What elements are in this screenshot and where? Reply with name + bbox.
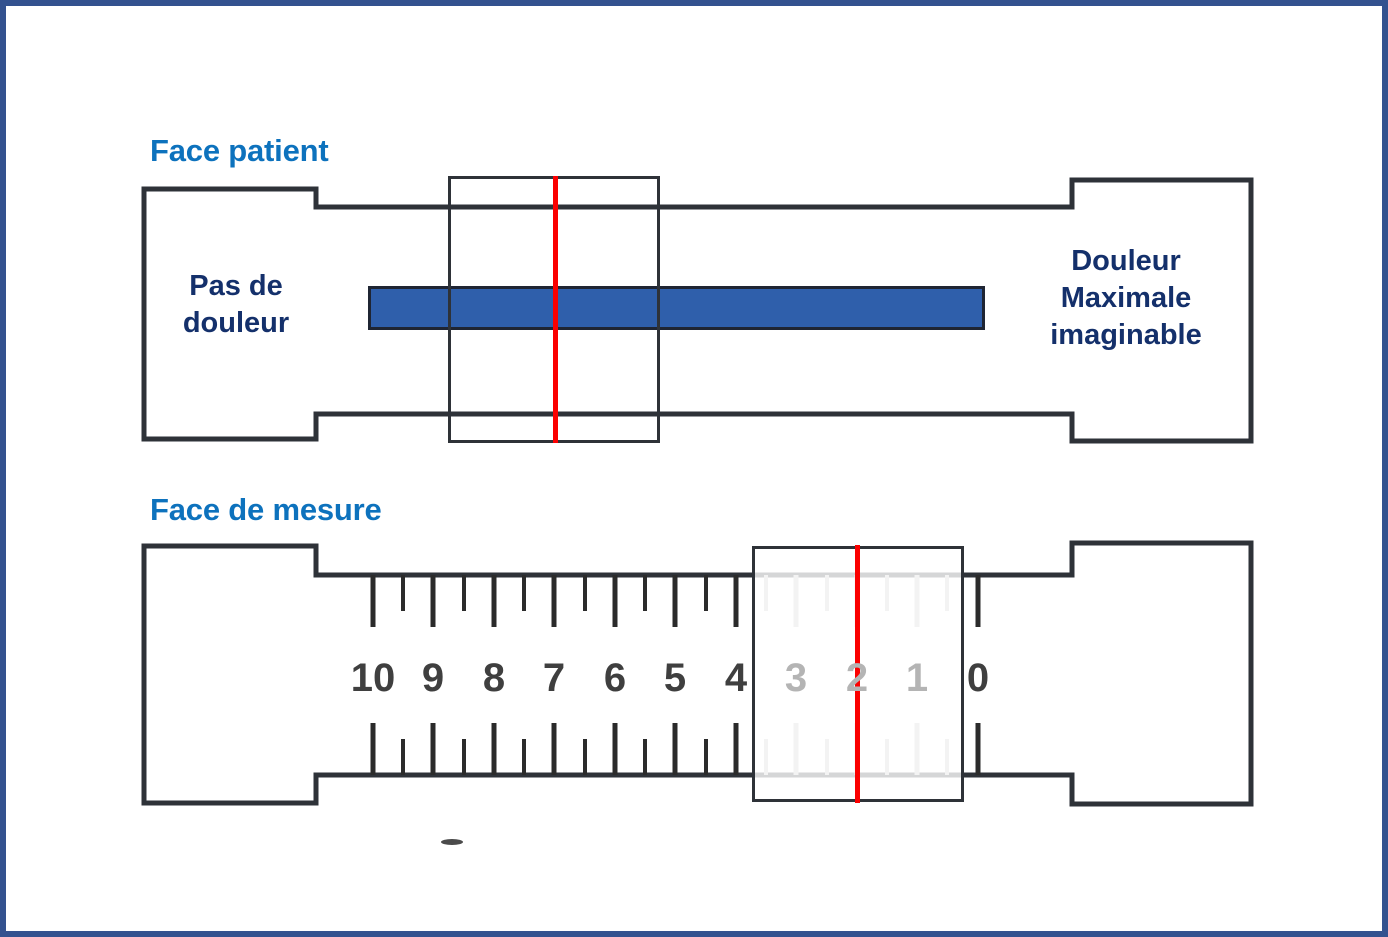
scale-number-4: 4: [725, 656, 747, 701]
scale-number-6: 6: [604, 656, 626, 701]
scale-number-2: 2: [846, 656, 868, 701]
scale-number-1: 1: [906, 656, 928, 701]
scale-number-3: 3: [785, 656, 807, 701]
vas-pain-scale-figure: Face patient Pas de douleur Douleur Maxi…: [0, 0, 1388, 937]
scale-number-7: 7: [543, 656, 565, 701]
scale-number-8: 8: [483, 656, 505, 701]
device-outline-measure-side: [0, 0, 1388, 937]
scale-number-5: 5: [664, 656, 686, 701]
scale-number-10: 10: [351, 656, 396, 701]
scale-number-9: 9: [422, 656, 444, 701]
scale-number-0: 0: [967, 656, 989, 701]
stray-mark-artifact: [441, 839, 463, 845]
